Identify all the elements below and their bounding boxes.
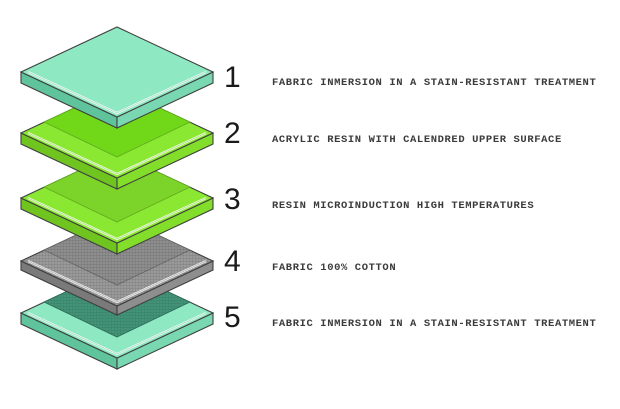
layer-caption-3: RESIN MICROINDUCTION HIGH TEMPERATURES <box>272 201 534 212</box>
layer-number-1: 1 <box>224 63 241 93</box>
layer-diagram-canvas: 1 2 3 4 5 FABRIC INMERSION IN A STAIN-RE… <box>0 0 620 409</box>
layer-number-2: 2 <box>224 119 241 149</box>
layer-caption-4: FABRIC 100% COTTON <box>272 263 396 274</box>
layer-1-slab <box>21 27 213 128</box>
layer-number-3: 3 <box>224 185 241 215</box>
layer-caption-1: FABRIC INMERSION IN A STAIN-RESISTANT TR… <box>272 78 596 89</box>
layer-caption-5: FABRIC INMERSION IN A STAIN-RESISTANT TR… <box>272 319 596 330</box>
layer-caption-2: ACRYLIC RESIN WITH CALENDRED UPPER SURFA… <box>272 135 562 146</box>
layer-number-5: 5 <box>224 303 241 333</box>
layer-number-4: 4 <box>224 247 241 277</box>
